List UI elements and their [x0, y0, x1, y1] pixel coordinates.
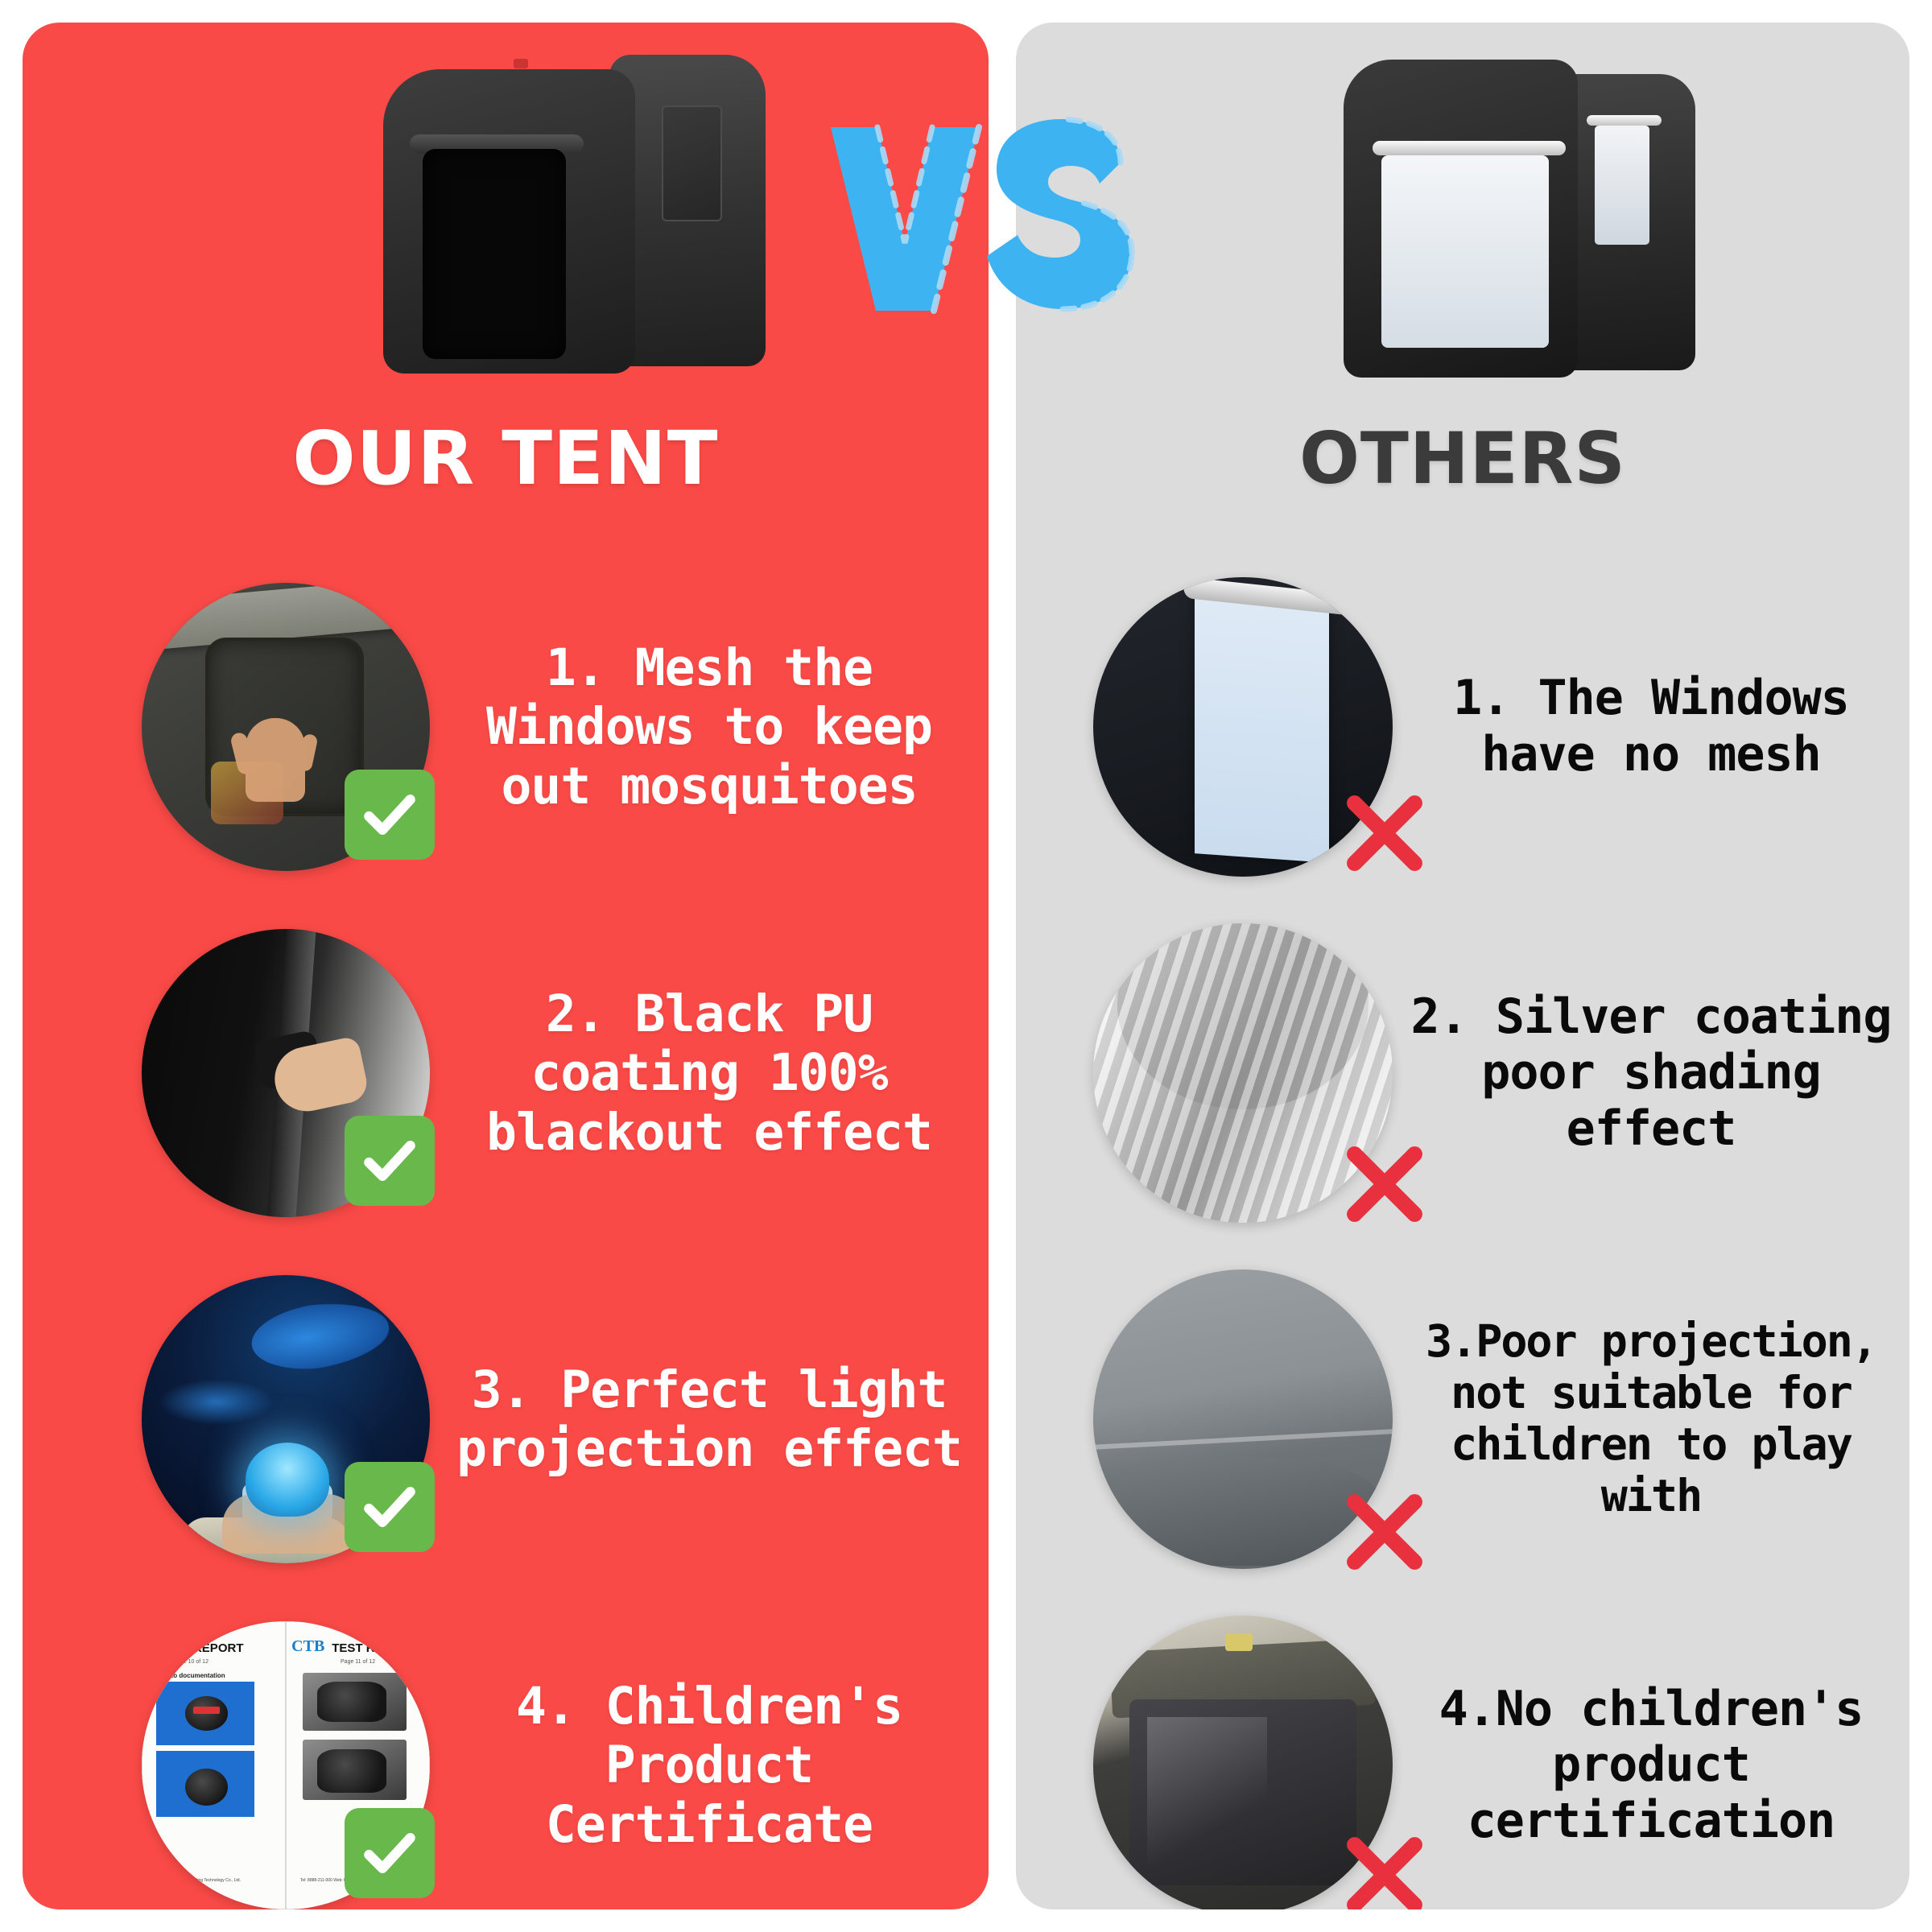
ctb-logo: CTB [291, 1637, 324, 1656]
cross-icon [1333, 782, 1436, 885]
feature-label: 1. Mesh the Windows to keep out mosquito… [430, 638, 989, 815]
our-tent-feature-list: 1. Mesh the Windows to keep out mosquito… [23, 554, 989, 1909]
feature-label: 3.Poor projection, not suitable for chil… [1393, 1316, 1909, 1521]
cross-icon [1333, 1133, 1436, 1236]
feature-row: 2. Black PU coating 100% blackout effect [23, 900, 989, 1246]
vs-badge [821, 113, 1143, 322]
feature-label: 2. Silver coating poor shading effect [1393, 989, 1909, 1158]
feature-row: TEST REPORT Page 10 of 12 Photo document… [23, 1592, 989, 1909]
feature-row: 3.Poor projection, not suitable for chil… [1016, 1246, 1909, 1592]
feature-label: 1. The Windows have no mesh [1393, 671, 1909, 782]
certificate-page-right: Page 11 of 12 [341, 1659, 375, 1665]
certificate-page-left: Page 10 of 12 [173, 1659, 208, 1665]
comparison-infographic: OUR TENT 1 [0, 0, 1932, 1932]
our-tent-heading: OUR TENT [23, 415, 989, 502]
certificate-title-right: TEST REPORT [332, 1641, 416, 1655]
check-icon [345, 1462, 435, 1552]
cross-icon [1333, 1480, 1436, 1583]
feature-label: 4. Children's Product Certificate [430, 1677, 989, 1853]
feature-row: 4.No children's product certification [1016, 1592, 1909, 1909]
feature-label: 4.No children's product certification [1393, 1682, 1909, 1850]
check-icon [345, 770, 435, 860]
feature-row: 2. Silver coating poor shading effect [1016, 900, 1909, 1246]
certificate-section-label: Photo documentation [159, 1672, 225, 1679]
feature-row: 1. The Windows have no mesh [1016, 554, 1909, 900]
others-tent-hero-image [1302, 37, 1720, 407]
feature-row: 1. Mesh the Windows to keep out mosquito… [23, 554, 989, 900]
check-icon [345, 1808, 435, 1898]
feature-label: 2. Black PU coating 100% blackout effect [430, 985, 989, 1161]
others-heading: OTHERS [1016, 417, 1909, 500]
cross-icon [1333, 1823, 1436, 1909]
check-icon [345, 1116, 435, 1206]
feature-row: 3. Perfect light projection effect [23, 1246, 989, 1592]
our-tent-hero-image [349, 40, 783, 402]
others-panel: OTHERS 1. The Windows hav [1016, 23, 1909, 1909]
certificate-title-left: TEST REPORT [159, 1641, 243, 1655]
feature-label: 3. Perfect light projection effect [430, 1360, 989, 1478]
others-feature-list: 1. The Windows have no mesh [1016, 554, 1909, 1909]
certificate-footer-left: Shenzhen CTB Testing Technology Co., Ltd… [162, 1878, 241, 1883]
